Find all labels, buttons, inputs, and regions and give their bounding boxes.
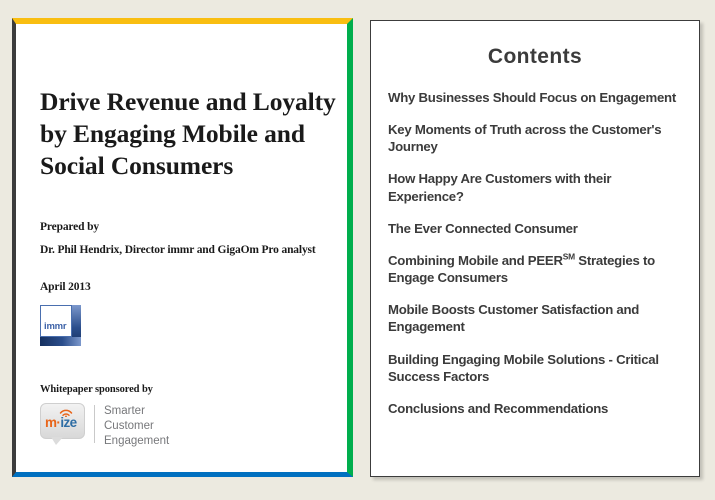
toc-item-label: The Ever Connected Consumer — [388, 221, 578, 236]
cover-page-panel: Drive Revenue and Loyalty by Engaging Mo… — [12, 18, 353, 477]
mize-wordmark-ize: ize — [60, 415, 76, 430]
immr-logo-bottom-gradient — [40, 337, 81, 346]
author-line: Dr. Phil Hendrix, Director immr and Giga… — [40, 244, 329, 256]
toc-item[interactable]: Mobile Boosts Customer Satisfaction and … — [388, 301, 682, 335]
toc-item[interactable]: How Happy Are Customers with their Exper… — [388, 170, 682, 204]
toc-item-label: Key Moments of Truth across the Customer… — [388, 122, 661, 154]
toc-item-label: How Happy Are Customers with their Exper… — [388, 171, 611, 203]
toc-item[interactable]: Building Engaging Mobile Solutions - Cri… — [388, 351, 682, 385]
contents-page-panel: Contents Why Businesses Should Focus on … — [370, 20, 700, 477]
page-stage: Drive Revenue and Loyalty by Engaging Mo… — [0, 0, 715, 500]
toc-item-superscript: SM — [563, 252, 575, 262]
contents-content: Contents Why Businesses Should Focus on … — [371, 21, 699, 417]
publication-date: April 2013 — [40, 281, 329, 293]
mize-logo-lockup: m·ize Smarter Customer Engagement — [40, 403, 329, 449]
cover-content: Drive Revenue and Loyalty by Engaging Mo… — [16, 24, 347, 472]
page-title: Drive Revenue and Loyalty by Engaging Mo… — [40, 86, 340, 182]
toc-item[interactable]: Why Businesses Should Focus on Engagemen… — [388, 89, 682, 106]
immr-logo: immr — [40, 305, 81, 346]
toc-item[interactable]: Conclusions and Recommendations — [388, 400, 682, 417]
toc-item-label: Why Businesses Should Focus on Engagemen… — [388, 90, 676, 105]
mize-logo-divider — [94, 405, 95, 443]
toc-item-label: Conclusions and Recommendations — [388, 401, 608, 416]
toc-item[interactable]: Combining Mobile and PEERSM Strategies t… — [388, 252, 682, 286]
mize-wordmark-m: m — [45, 415, 56, 430]
toc-item-label: Mobile Boosts Customer Satisfaction and … — [388, 302, 639, 334]
toc-item[interactable]: Key Moments of Truth across the Customer… — [388, 121, 682, 155]
contents-heading: Contents — [388, 45, 682, 69]
toc-item-label: Building Engaging Mobile Solutions - Cri… — [388, 352, 659, 384]
toc-item[interactable]: The Ever Connected Consumer — [388, 220, 682, 237]
toc-item-label: Combining Mobile and PEER — [388, 253, 563, 268]
sponsor-label: Whitepaper sponsored by — [40, 384, 329, 395]
mize-wordmark: m·ize — [45, 416, 77, 430]
mize-logo-badge: m·ize — [40, 403, 85, 444]
table-of-contents-list: Why Businesses Should Focus on Engagemen… — [388, 89, 682, 417]
speech-bubble-tail-icon — [51, 437, 63, 445]
mize-tagline: Smarter Customer Engagement — [104, 403, 169, 449]
prepared-by-label: Prepared by — [40, 221, 329, 233]
immr-logo-wordmark: immr — [44, 321, 66, 332]
